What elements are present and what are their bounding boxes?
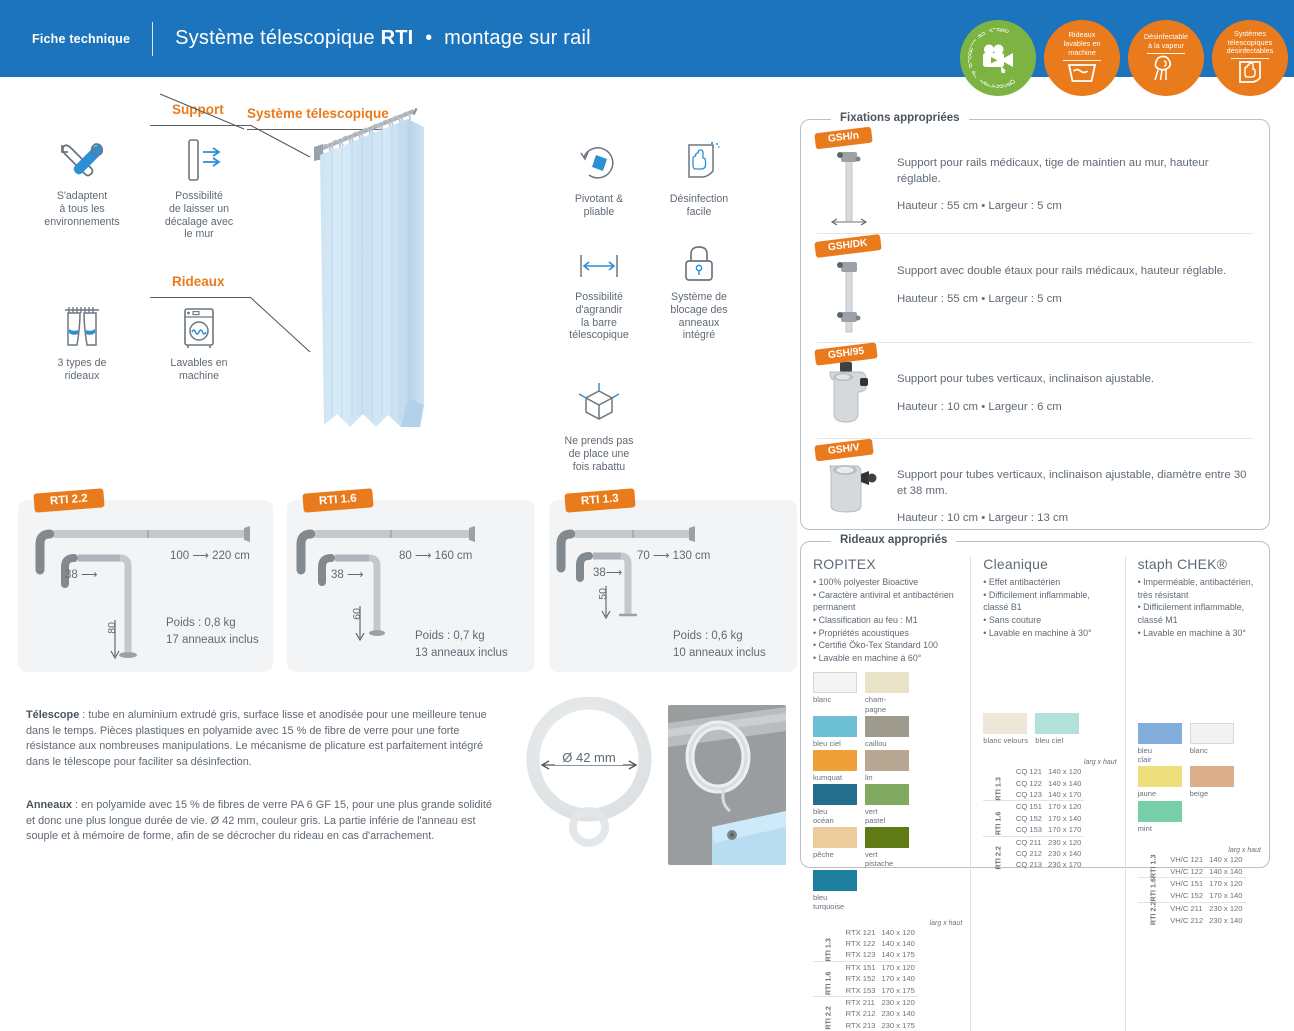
- rideau-name: Cleanique: [983, 556, 1116, 572]
- group-label: RTI 1.3: [813, 927, 843, 962]
- easy-disinfect-icon: [645, 135, 753, 187]
- card-weight-block: Poids : 0,6 kg 10 anneaux inclus: [673, 628, 766, 661]
- swatch-chip: [813, 716, 857, 737]
- feature-label: Pivotant &pliable: [545, 193, 653, 219]
- telescope-title: Télescope: [26, 709, 79, 721]
- color-swatch[interactable]: jaune: [1138, 766, 1184, 798]
- color-swatch[interactable]: blanc: [813, 672, 859, 713]
- page-title: Système télescopique RTI • montage sur r…: [175, 27, 591, 50]
- color-swatch[interactable]: caillou: [865, 716, 911, 748]
- table-row: RTI 1.6RTX 151170 x 120: [813, 961, 918, 973]
- feature-label: Système deblocage desanneauxintégré: [645, 291, 753, 342]
- card-rti22: RTI 2.2 100 ⟶ 220 cm 38 ⟶ 80 Poids : 0,8…: [18, 500, 273, 672]
- card-rings: 10 anneaux inclus: [673, 645, 766, 662]
- feature-washable: Lavables enmachine: [145, 299, 253, 383]
- steam-badge[interactable]: Désinfectableà la vapeur: [1128, 20, 1204, 96]
- fixation-dims: Hauteur : 55 cm • Largeur : 5 cm: [897, 293, 1237, 305]
- product-code: RTX 122: [843, 938, 879, 949]
- product-code: RTX 121: [843, 927, 879, 938]
- product-code: CQ 122: [1013, 778, 1045, 789]
- swatch-chip: [813, 672, 857, 693]
- product-code: VH/C 151: [1167, 878, 1206, 890]
- product-size: 230 x 140: [878, 1008, 917, 1019]
- feature-ring-lock: Système deblocage desanneauxintégré: [645, 233, 753, 342]
- product-size: 170 x 140: [878, 973, 917, 984]
- product-code: RTX 213: [843, 1020, 879, 1031]
- fixation-item-gshn[interactable]: GSH/n Support pour rails médicaux, tige …: [801, 132, 1269, 242]
- height-arrow: [601, 586, 611, 624]
- rideau-bullet: • Propriétés acoustiques: [813, 627, 962, 640]
- table-row: RTI 2.2RTX 211230 x 120: [813, 996, 918, 1008]
- feature-label: Possibilitéde laisser undécalage avecle …: [145, 190, 253, 241]
- badge-separator: [1231, 58, 1269, 59]
- color-swatch[interactable]: vertpistache: [865, 827, 911, 868]
- card-weight: Poids : 0,6 kg: [673, 628, 766, 645]
- page-header: Fiche technique Système télescopique RTI…: [0, 0, 1294, 77]
- rideau-bullet: • Imperméable, antibactérien, très résis…: [1138, 576, 1261, 601]
- product-size: 170 x 170: [1045, 824, 1084, 836]
- product-size: 170 x 175: [878, 985, 917, 997]
- product-size: 140 x 120: [1206, 854, 1245, 866]
- product-size: 170 x 120: [1045, 801, 1084, 813]
- rideau-column-0: ROPITEX• 100% polyester Bioactive• Carac…: [801, 556, 970, 1031]
- product-size: 230 x 120: [878, 996, 917, 1008]
- code-table: larg x hautRTI 1.3CQ 121140 x 120CQ 1221…: [983, 759, 1116, 871]
- fixation-dims: Hauteur : 10 cm • Largeur : 13 cm: [897, 512, 1247, 524]
- color-swatch[interactable]: blanc velours: [983, 713, 1029, 745]
- disinfect-badge-text: Systèmestélescopiquesdésinfectables: [1221, 30, 1280, 57]
- swatch-chip: [865, 716, 909, 737]
- color-swatch[interactable]: cham-pagne: [865, 672, 911, 713]
- product-size: 140 x 170: [1045, 789, 1084, 801]
- rideau-bullet: • Sans couture: [983, 614, 1116, 627]
- product-code: VH/C 211: [1167, 902, 1206, 914]
- product-code: CQ 213: [1013, 859, 1045, 870]
- group-label: RTI 2.2: [1138, 902, 1168, 926]
- feature-easy-disinfect: Désinfectionfacile: [645, 135, 753, 219]
- washing-machine-icon: [145, 299, 253, 351]
- product-code: VH/C 152: [1167, 890, 1206, 902]
- compact-cube-icon: [545, 377, 653, 429]
- swatch-label: vertpistache: [865, 850, 911, 868]
- feature-label: Possibilitéd'agrandirla barretélescopiqu…: [545, 291, 653, 342]
- color-swatch[interactable]: blanc: [1190, 723, 1236, 764]
- color-swatch[interactable]: kumquat: [813, 750, 859, 782]
- header-divider: [152, 22, 153, 56]
- anneaux-title: Anneaux: [26, 799, 72, 811]
- table-row: RTI 1.3VH/C 121140 x 120: [1138, 854, 1246, 866]
- rideau-bullet: • Effet antibactérien: [983, 576, 1116, 589]
- color-swatch[interactable]: bleuturquoise: [813, 870, 859, 911]
- disinfect-badge[interactable]: Systèmestélescopiquesdésinfectables: [1212, 20, 1288, 96]
- product-code: CQ 212: [1013, 848, 1045, 859]
- color-swatch[interactable]: mint: [1138, 801, 1184, 833]
- color-swatch[interactable]: bleuclair: [1138, 723, 1184, 764]
- anneaux-paragraph: Anneaux : en polyamide avec 15 % de fibr…: [26, 798, 496, 845]
- fiche-technique-label: Fiche technique: [32, 32, 130, 46]
- table-row: RTI 2.2VH/C 211230 x 120: [1138, 902, 1246, 914]
- swatch-chip: [1138, 801, 1182, 822]
- code-table-header: larg x haut: [813, 920, 962, 927]
- color-swatch[interactable]: vertpastel: [865, 784, 911, 825]
- product-code: RTX 153: [843, 985, 879, 997]
- swatch-label: mint: [1138, 824, 1184, 833]
- group-label: RTI 1.6: [983, 801, 1013, 836]
- product-size: 140 x 140: [878, 938, 917, 949]
- swatch-label: beige: [1190, 789, 1236, 798]
- table-row: RTI 1.6VH/C 151170 x 120: [1138, 878, 1246, 890]
- product-code: RTX 152: [843, 973, 879, 984]
- feature-label: Désinfectionfacile: [645, 193, 753, 219]
- row-divider: [817, 233, 1253, 234]
- product-code: CQ 151: [1013, 801, 1045, 813]
- feature-label: 3 types derideaux: [28, 357, 136, 383]
- curtain-illustration: [296, 97, 476, 437]
- feature-label: Ne prends pasde place unefois rabattu: [545, 435, 653, 473]
- product-size: 170 x 120: [878, 961, 917, 973]
- product-code: VH/C 121: [1167, 854, 1206, 866]
- color-swatch[interactable]: pêche: [813, 827, 859, 868]
- feature-curtain-types: 3 types derideaux: [28, 299, 136, 383]
- product-cards: RTI 2.2 100 ⟶ 220 cm 38 ⟶ 80 Poids : 0,8…: [18, 500, 797, 672]
- color-swatch[interactable]: lin: [865, 750, 911, 782]
- product-size: 230 x 170: [1045, 859, 1084, 870]
- card-weight: Poids : 0,7 kg: [415, 628, 508, 645]
- fixation-dims: Hauteur : 10 cm • Largeur : 6 cm: [897, 401, 1237, 413]
- swatch-chip: [1138, 723, 1182, 744]
- curtain-types-icon: [28, 299, 136, 351]
- rideaux-panel-title: Rideaux appropriés: [831, 534, 956, 546]
- table-row: RTI 1.3RTX 121140 x 120: [813, 927, 918, 938]
- swatch-chip: [865, 672, 909, 693]
- row-divider: [817, 342, 1253, 343]
- fixation-desc: Support pour tubes verticaux, inclinaiso…: [897, 372, 1237, 388]
- swatch-label: pêche: [813, 850, 859, 859]
- product-code: RTX 211: [843, 996, 879, 1008]
- pivot-fold-icon: [545, 135, 653, 187]
- product-size: 230 x 120: [1206, 902, 1245, 914]
- group-label: RTI 1.3: [1138, 854, 1168, 878]
- swatch-label: bleu ciel: [1035, 736, 1081, 745]
- telescope-paragraph: Télescope : tube en aluminium extrudé gr…: [26, 708, 496, 771]
- color-swatches: blanc veloursbleu ciel: [983, 713, 1116, 747]
- table-row: RTI 1.3CQ 121140 x 120: [983, 766, 1084, 777]
- rideaux-panel: Rideaux appropriés ROPITEX• 100% polyest…: [800, 541, 1270, 868]
- product-size: 230 x 120: [1045, 836, 1084, 848]
- rideau-bullet: • Difficilement inflammable, classé M1: [1138, 601, 1261, 626]
- swatch-chip: [1190, 766, 1234, 787]
- ring-drawing: Ø 42 mm: [525, 697, 675, 857]
- rideau-bullet: • Difficilement inflammable, classé B1: [983, 589, 1116, 614]
- rideau-column-1: Cleanique• Effet antibactérien• Difficil…: [970, 556, 1124, 1031]
- rideau-bullets: • Effet antibactérien• Difficilement inf…: [983, 576, 1116, 639]
- card-tag: RTI 1.6: [302, 488, 373, 512]
- product-size: 230 x 140: [1045, 848, 1084, 859]
- swatch-label: vertpastel: [865, 807, 911, 825]
- group-label: RTI 1.3: [983, 766, 1013, 801]
- fixation-text: Support pour tubes verticaux, inclinaiso…: [897, 454, 1247, 526]
- color-swatch[interactable]: bleuocéan: [813, 784, 859, 825]
- product-code: RTX 151: [843, 961, 879, 973]
- product-code: CQ 152: [1013, 813, 1045, 824]
- swatch-label: blanc: [1190, 746, 1236, 755]
- anneaux-body: : en polyamide avec 15 % de fibres de ve…: [26, 799, 492, 842]
- ring-photo: [668, 705, 786, 865]
- color-swatch[interactable]: beige: [1190, 766, 1236, 798]
- swatch-chip: [983, 713, 1027, 734]
- fixation-desc: Support pour tubes verticaux, inclinaiso…: [897, 468, 1247, 499]
- group-label: RTI 2.2: [813, 996, 843, 1031]
- wash-tub-icon: [1067, 62, 1097, 83]
- table-row: RTI 1.6CQ 151170 x 120: [983, 801, 1084, 813]
- rideau-bullet: • Lavable en machine à 60°: [813, 652, 962, 665]
- product-size: 140 x 140: [1206, 865, 1245, 877]
- card-rings: 13 anneaux inclus: [415, 645, 508, 662]
- telescope-body: : tube en aluminium extrudé gris, surfac…: [26, 709, 487, 768]
- vertical-tube-bracket-icon: [801, 358, 897, 430]
- vertical-tube-clamp-icon: [801, 454, 897, 526]
- card-rti13: RTI 1.3 70 ⟶ 130 cm 38⟶ 50 Poids : 0,6 k…: [549, 500, 797, 672]
- card-span: 70 ⟶ 130 cm: [637, 548, 710, 562]
- fixations-panel-title: Fixations appropriées: [831, 112, 969, 124]
- swatch-chip: [813, 750, 857, 771]
- swatch-chip: [865, 750, 909, 771]
- product-code: VH/C 122: [1167, 865, 1206, 877]
- swatch-chip: [865, 827, 909, 848]
- feature-compact: Ne prends pasde place unefois rabattu: [545, 377, 653, 473]
- swatch-label: lin: [865, 773, 911, 782]
- product-code: CQ 153: [1013, 824, 1045, 836]
- card-depth: 38⟶: [593, 565, 622, 579]
- product-code: CQ 123: [1013, 789, 1045, 801]
- group-label: RTI 2.2: [983, 836, 1013, 871]
- rideau-bullets: • Imperméable, antibactérien, très résis…: [1138, 576, 1261, 639]
- product-size: 140 x 120: [1045, 766, 1084, 777]
- swatch-label: cham-pagne: [865, 695, 911, 713]
- card-tag: RTI 1.3: [564, 488, 635, 512]
- swatch-chip: [865, 784, 909, 805]
- product-code: RTX 212: [843, 1008, 879, 1019]
- fixation-desc: Support pour rails médicaux, tige de mai…: [897, 156, 1237, 187]
- video-badge[interactable]: Découvrez le produit en vidéo: [960, 20, 1036, 96]
- feature-extend-bar: Possibilitéd'agrandirla barretélescopiqu…: [545, 233, 653, 342]
- fixation-item-gshv[interactable]: GSH/V Support pour tubes verticaux, incl…: [801, 444, 1269, 536]
- fixation-text: Support pour tubes verticaux, inclinaiso…: [897, 358, 1237, 430]
- card-rti16: RTI 1.6 80 ⟶ 160 cm 38 ⟶ 60 Poids : 0,7 …: [287, 500, 535, 672]
- hand-wipe-icon: [1237, 60, 1263, 84]
- steam-iron-icon: [1151, 55, 1181, 81]
- height-arrow: [110, 620, 120, 664]
- swatch-label: caillou: [865, 739, 911, 748]
- card-weight-block: Poids : 0,8 kg 17 anneaux inclus: [166, 615, 259, 648]
- product-size: 170 x 120: [1206, 878, 1245, 890]
- card-weight-block: Poids : 0,7 kg 13 anneaux inclus: [415, 628, 508, 661]
- fixation-text: Support pour rails médicaux, tige de mai…: [897, 142, 1237, 232]
- color-swatch[interactable]: bleu ciel: [1035, 713, 1081, 745]
- swatch-label: bleuocéan: [813, 807, 859, 825]
- code-table-header: larg x haut: [1138, 847, 1261, 854]
- washable-badge[interactable]: Rideauxlavables enmachine: [1044, 20, 1120, 96]
- product-size: 140 x 140: [1045, 778, 1084, 789]
- card-span: 100 ⟶ 220 cm: [170, 548, 250, 562]
- product-code: CQ 121: [1013, 766, 1045, 777]
- feature-pivot-fold: Pivotant &pliable: [545, 135, 653, 219]
- rideau-column-2: staph CHEK®• Imperméable, antibactérien,…: [1125, 556, 1269, 1031]
- ring-lock-icon: [645, 233, 753, 285]
- product-size: 140 x 120: [878, 927, 917, 938]
- badge-separator: [1147, 53, 1185, 54]
- swatch-chip: [1035, 713, 1079, 734]
- page-title-rest: montage sur rail: [444, 27, 591, 49]
- rideau-name: staph CHEK®: [1138, 556, 1261, 572]
- height-arrow: [355, 606, 365, 646]
- double-clamp-pole-icon: [801, 250, 897, 340]
- swatch-label: kumquat: [813, 773, 859, 782]
- swatch-chip: [813, 784, 857, 805]
- product-size: 230 x 140: [1206, 915, 1245, 927]
- color-swatch[interactable]: bleu ciel: [813, 716, 859, 748]
- fixation-item-gshdk[interactable]: GSH/DK Support avec double étaux pour ra…: [801, 240, 1269, 350]
- rideau-bullet: • Lavable en machine à 30°: [1138, 627, 1261, 640]
- product-size: 230 x 175: [878, 1020, 917, 1031]
- swatch-label: bleu ciel: [813, 739, 859, 748]
- extend-bar-icon: [545, 233, 653, 285]
- card-span: 80 ⟶ 160 cm: [399, 548, 472, 562]
- title-bullet: •: [425, 27, 432, 49]
- rideau-bullet: • Certifié Öko-Tex Standard 100: [813, 639, 962, 652]
- swatch-chip: [1190, 723, 1234, 744]
- washable-badge-text: Rideauxlavables enmachine: [1058, 31, 1107, 58]
- fixation-text: Support avec double étaux pour rails méd…: [897, 250, 1237, 340]
- card-tag: RTI 2.2: [33, 488, 104, 512]
- video-badge-ring-text: Découvrez le produit en vidéo: [960, 20, 1036, 96]
- product-size: 140 x 175: [878, 949, 917, 961]
- card-weight: Poids : 0,8 kg: [166, 615, 259, 632]
- badge-separator: [1063, 60, 1101, 61]
- fixation-dims: Hauteur : 55 cm • Largeur : 5 cm: [897, 200, 1237, 212]
- features-area: Support Rideaux Système télescopique S'a…: [0, 77, 800, 467]
- product-size: 170 x 140: [1045, 813, 1084, 824]
- product-size: 170 x 140: [1206, 890, 1245, 902]
- card-rings: 17 anneaux inclus: [166, 632, 259, 649]
- steam-badge-text: Désinfectableà la vapeur: [1138, 33, 1194, 51]
- page-title-model: RTI: [381, 27, 414, 49]
- card-depth: 38 ⟶: [331, 567, 364, 581]
- swatch-label: jaune: [1138, 789, 1184, 798]
- group-label: RTI 1.6: [1138, 878, 1168, 903]
- color-swatches: blanccham-pagnebleu cielcailloukumquatli…: [813, 672, 962, 913]
- badge-row: Découvrez le produit en vidéo Rideauxlav…: [960, 20, 1288, 96]
- swatch-chip: [1138, 766, 1182, 787]
- code-table: larg x hautRTI 1.3RTX 121140 x 120RTX 12…: [813, 920, 962, 1031]
- table-row: RTI 2.2CQ 211230 x 120: [983, 836, 1084, 848]
- rideau-name: ROPITEX: [813, 556, 962, 572]
- rideau-bullet: • Lavable en machine à 30°: [983, 627, 1116, 640]
- page-title-main: Système télescopique: [175, 27, 375, 49]
- group-label: RTI 1.6: [813, 961, 843, 996]
- feature-adapts: S'adaptentà tous lesenvironnements: [28, 132, 136, 228]
- product-code: CQ 211: [1013, 836, 1045, 848]
- product-code: RTX 123: [843, 949, 879, 961]
- swatch-label: blanc: [813, 695, 859, 704]
- card-depth: 38 ⟶: [65, 567, 98, 581]
- rideau-bullet: • Caractère antiviral et antibactérien p…: [813, 589, 962, 614]
- ceiling-pole-support-icon: [801, 142, 897, 232]
- ring-diameter-label: Ø 42 mm: [562, 750, 615, 765]
- fixation-desc: Support avec double étaux pour rails méd…: [897, 264, 1237, 280]
- swatch-chip: [813, 827, 857, 848]
- swatch-label: blanc velours: [983, 736, 1029, 745]
- color-swatches: bleuclairblancjaunebeigemint: [1138, 723, 1261, 834]
- row-divider: [817, 438, 1253, 439]
- rideau-bullet: • 100% polyester Bioactive: [813, 576, 962, 589]
- product-code: VH/C 212: [1167, 915, 1206, 927]
- fixation-item-gsh95[interactable]: GSH/95 Support pour tubes verticaux, inc…: [801, 348, 1269, 440]
- wall-offset-icon: [145, 132, 253, 184]
- swatch-label: bleuclair: [1138, 746, 1184, 764]
- rideaux-columns: ROPITEX• 100% polyester Bioactive• Carac…: [801, 556, 1269, 1031]
- rideau-bullet: • Classification au feu : M1: [813, 614, 962, 627]
- code-table: larg x hautRTI 1.3VH/C 121140 x 120VH/C …: [1138, 847, 1261, 927]
- feature-wall-offset: Possibilitéde laisser undécalage avecle …: [145, 132, 253, 241]
- feature-label: Lavables enmachine: [145, 357, 253, 383]
- swatch-label: bleuturquoise: [813, 893, 859, 911]
- tools-icon: [28, 132, 136, 184]
- rideau-bullets: • 100% polyester Bioactive• Caractère an…: [813, 576, 962, 664]
- feature-label: S'adaptentà tous lesenvironnements: [28, 190, 136, 228]
- fixations-panel: Fixations appropriées GSH/n Support pour…: [800, 119, 1270, 530]
